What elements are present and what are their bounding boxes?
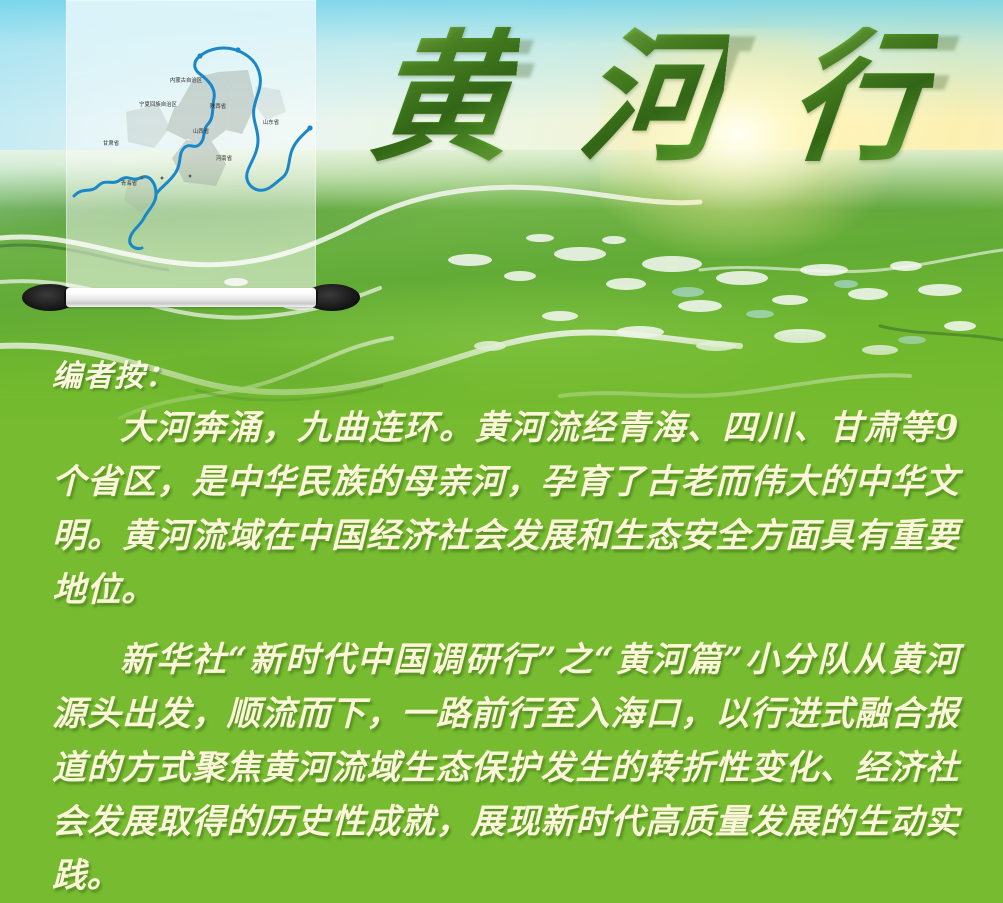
map-scroll: 内蒙古自治区 宁夏回族自治区 陕西省 山西省 甘肃省 河南省 山东省 青海省 [66,0,316,315]
editorial-label: 编者按： [52,360,959,395]
map-label: 青海省 [121,179,138,187]
map-label: 宁夏回族自治区 [139,100,177,108]
editorial-paragraph-1: 大河奔涌，九曲连环。黄河流经青海、四川、甘肃等9个省区，是中华民族的母亲河，孕育… [52,401,959,617]
editorial-paragraph-2: 新华社“新时代中国调研行”之“黄河篇”小分队从黄河源头出发，顺流而下，一路前行至… [52,633,959,903]
map-label: 山东省 [263,118,280,126]
page-title: 黄 河 行 [372,18,932,178]
scroll-roller [22,284,360,311]
title-char-2: 河 [574,27,731,169]
scroll-paper: 内蒙古自治区 宁夏回族自治区 陕西省 山西省 甘肃省 河南省 山东省 青海省 [66,0,316,292]
map-label: 河南省 [216,154,233,162]
title-char-3: 行 [783,27,940,169]
map-label: 山西省 [193,127,210,135]
map-label: 陕西省 [210,102,227,110]
map-label: 甘肃省 [103,139,120,147]
title-char-1: 黄 [365,27,522,169]
scroll-rod-bar [66,288,316,307]
map-label: 内蒙古自治区 [170,76,203,84]
poster-root: 内蒙古自治区 宁夏回族自治区 陕西省 山西省 甘肃省 河南省 山东省 青海省 黄… [0,0,1003,903]
editorial-note: 编者按： 大河奔涌，九曲连环。黄河流经青海、四川、甘肃等9个省区，是中华民族的母… [0,360,1003,903]
yellow-river-basin-map: 内蒙古自治区 宁夏回族自治区 陕西省 山西省 甘肃省 河南省 山东省 青海省 [66,0,316,292]
